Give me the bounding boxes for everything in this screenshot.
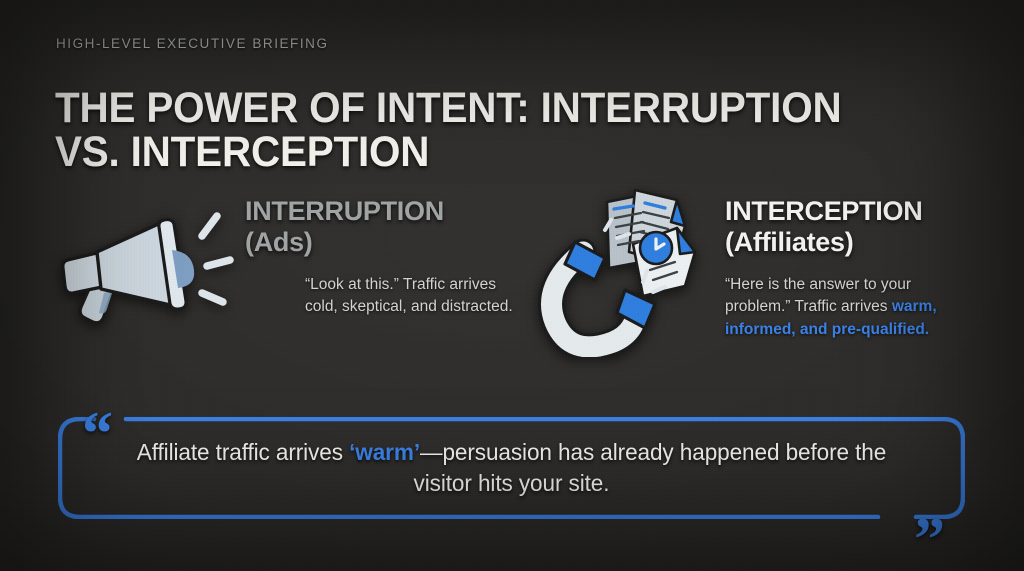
column-body-interception: “Here is the answer to your problem.” Tr…: [725, 274, 965, 341]
eyebrow-label: HIGH-LEVEL EXECUTIVE BRIEFING: [56, 36, 329, 51]
quote-open-mark: “: [82, 403, 113, 465]
column-heading-interception: INTERCEPTION (Affiliates): [725, 196, 985, 259]
quote-text: Affiliate traffic arrives ‘warm’—persuas…: [134, 437, 890, 499]
column-body-interruption: “Look at this.” Traffic arrives cold, sk…: [305, 274, 515, 319]
page-title: THE POWER OF INTENT: INTERRUPTION VS. IN…: [55, 87, 882, 175]
quote-callout: “ ” Affiliate traffic arrives ‘warm’—per…: [58, 417, 965, 519]
quote-text-highlight: ‘warm’: [349, 439, 420, 465]
column-body-text: “Look at this.” Traffic arrives cold, sk…: [305, 276, 513, 315]
quote-close-mark: ”: [914, 509, 945, 571]
column-heading-interruption: INTERRUPTION (Ads): [245, 196, 515, 259]
column-body-text-lead: “Here is the answer to your problem.” Tr…: [725, 276, 911, 315]
magnet-documents-icon: [525, 182, 720, 357]
megaphone-icon: [60, 194, 235, 334]
quote-text-tail: —persuasion has already happened before …: [414, 439, 887, 496]
slide-canvas: HIGH-LEVEL EXECUTIVE BRIEFING THE POWER …: [0, 0, 1024, 571]
quote-text-lead: Affiliate traffic arrives: [137, 439, 349, 465]
